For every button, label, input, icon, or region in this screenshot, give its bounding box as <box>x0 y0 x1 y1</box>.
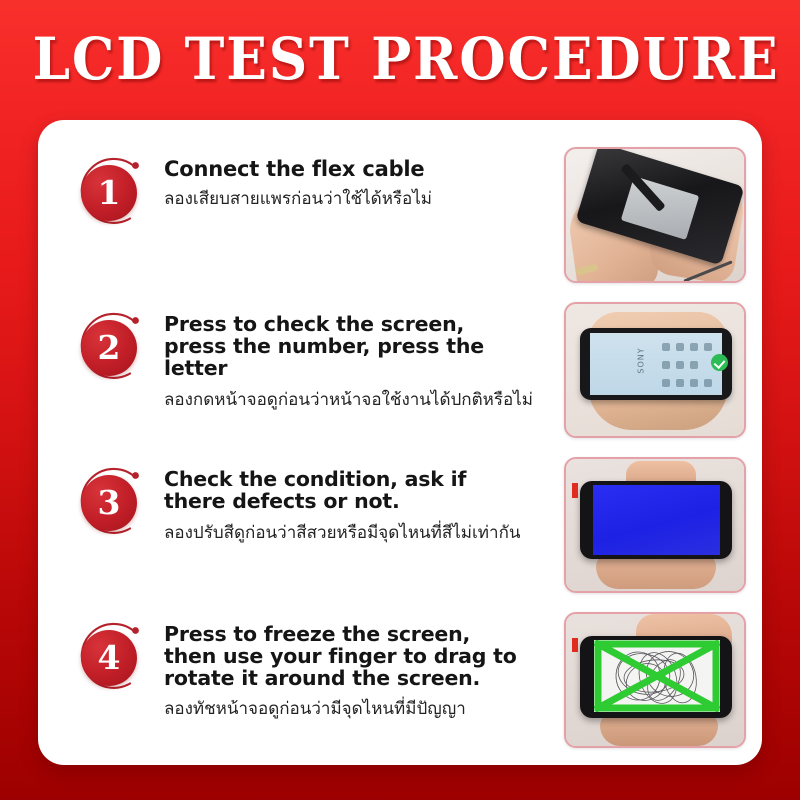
step-title-en: Connect the flex cable <box>164 158 524 180</box>
step-title-en: Press to freeze the screen, then use you… <box>164 623 524 689</box>
photo-blue-screen-test <box>564 457 746 593</box>
badge-circle: 4 <box>81 630 137 686</box>
step-title-th: ลองปรับสีดูก่อนว่าสีสวยหรือมีจุดไหนที่สี… <box>164 521 564 545</box>
step-text-block: Press to freeze the screen, then use you… <box>150 603 564 721</box>
step-badge-3: 3 <box>68 462 150 544</box>
photo-touch-drag-test <box>564 612 746 748</box>
badge-number: 3 <box>98 486 121 519</box>
step-row: 3 Check the condition, ask if there defe… <box>38 448 762 598</box>
photo-press-check-screen: SONY <box>564 302 746 438</box>
badge-circle: 3 <box>81 475 137 531</box>
badge-circle: 2 <box>81 320 137 376</box>
step-text-block: Check the condition, ask if there defect… <box>150 448 564 545</box>
badge-circle: 1 <box>81 165 137 221</box>
steps-card: 1 Connect the flex cable ลองเสียบสายแพรก… <box>38 120 762 765</box>
step-text-block: Connect the flex cable ลองเสียบสายแพรก่อ… <box>150 138 564 211</box>
touch-test-pattern-icon <box>594 640 720 712</box>
page-title: LCD TEST PROCEDURE <box>32 26 779 92</box>
photo-connect-flex-cable <box>564 147 746 283</box>
red-marker <box>572 638 578 652</box>
check-circle-icon <box>711 354 728 371</box>
step-title-en: Check the condition, ask if there defect… <box>164 468 524 512</box>
red-marker <box>572 483 578 498</box>
step-row: 4 Press to freeze the screen, then use y… <box>38 603 762 758</box>
step-title-en: Press to check the screen, press the num… <box>164 313 524 379</box>
step-row: 1 Connect the flex cable ลองเสียบสายแพรก… <box>38 138 762 288</box>
step-badge-4: 4 <box>68 617 150 699</box>
step-title-th: ลองทัชหน้าจอดูก่อนว่ามีจุดไหนที่มีปัญญา <box>164 697 564 721</box>
step-title-th: ลองกดหน้าจอดูก่อนว่าหน้าจอใช้งานได้ปกติห… <box>164 388 564 412</box>
badge-number: 2 <box>98 331 121 364</box>
step-badge-2: 2 <box>68 307 150 389</box>
step-row: 2 Press to check the screen, press the n… <box>38 293 762 443</box>
step-text-block: Press to check the screen, press the num… <box>150 293 564 412</box>
badge-number: 4 <box>98 641 121 674</box>
step-badge-1: 1 <box>68 152 150 234</box>
lcd-test-procedure-poster: LCD TEST PROCEDURE 1 Connect the flex ca… <box>0 0 800 800</box>
touch-test-screen <box>594 640 720 712</box>
badge-number: 1 <box>98 176 121 209</box>
step-title-th: ลองเสียบสายแพรก่อนว่าใช้ได้หรือไม่ <box>164 187 564 211</box>
poster-title-bar: LCD TEST PROCEDURE <box>0 26 800 92</box>
phone-screen-label: SONY <box>637 347 646 373</box>
